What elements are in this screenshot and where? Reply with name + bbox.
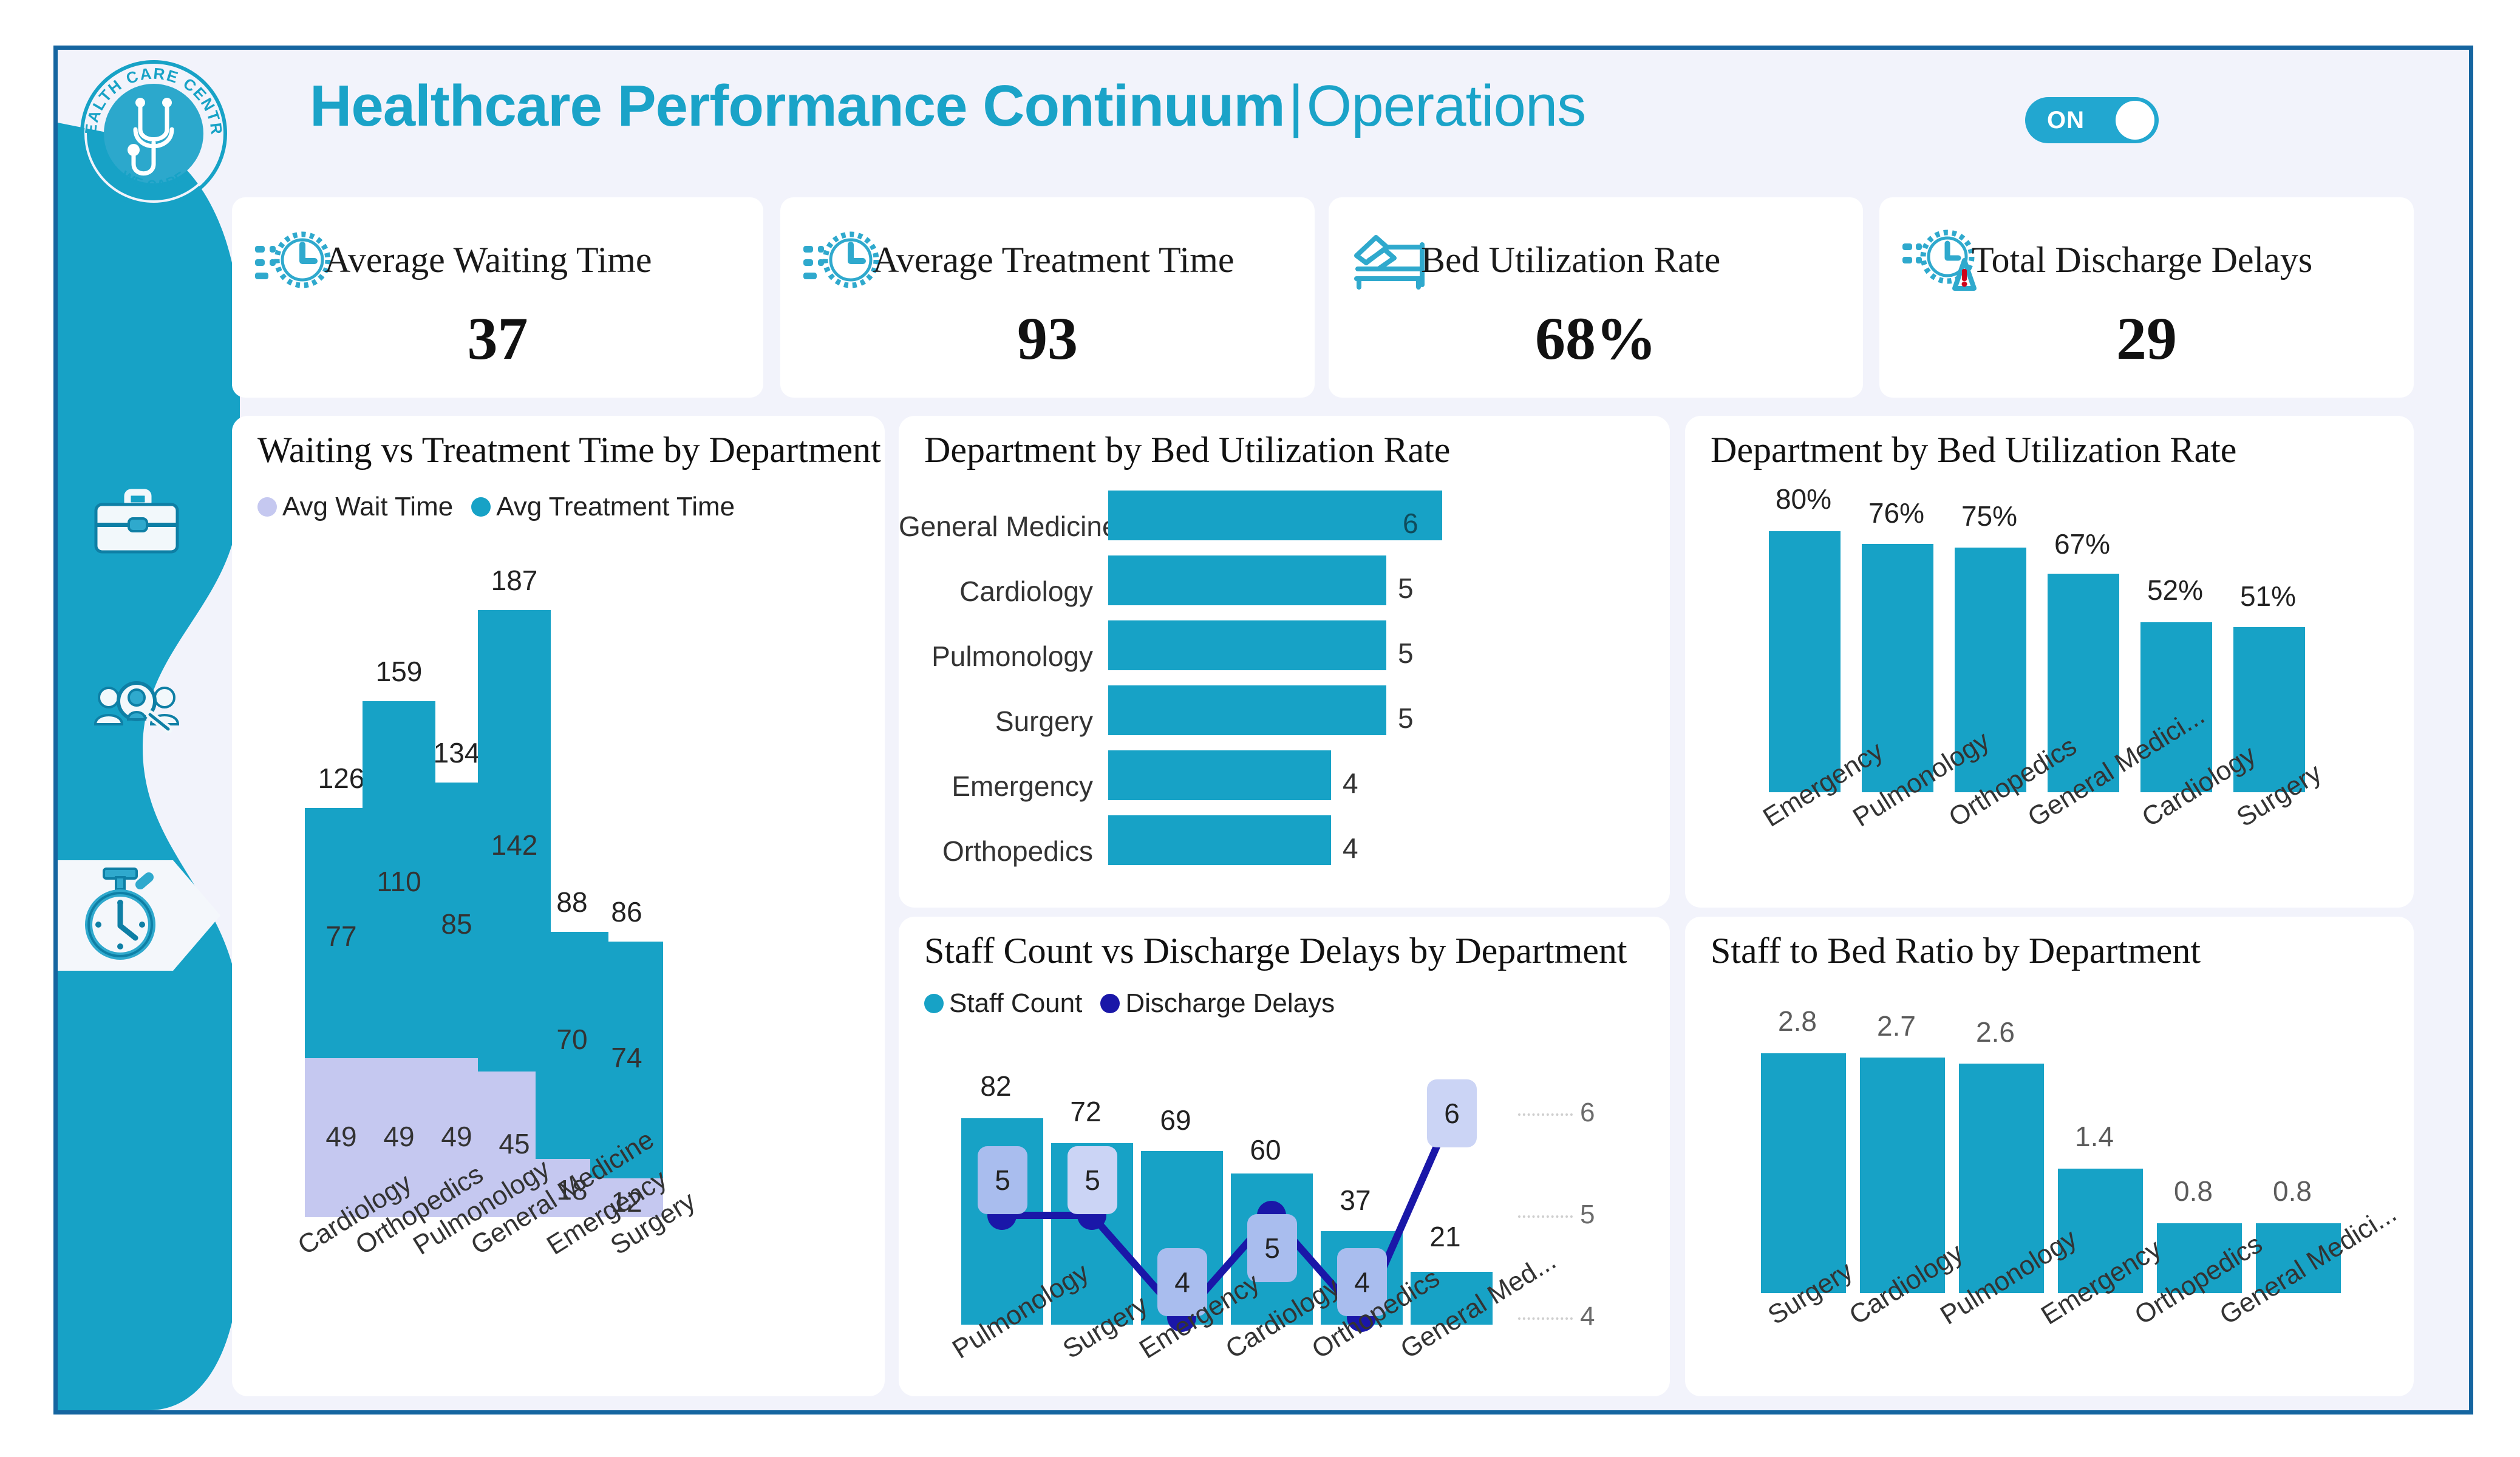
y-axis-label: Cardiology [899,575,1093,608]
line-value-label: 6 [1427,1079,1477,1147]
hbar[interactable] [1108,555,1386,605]
chart-card-staff-vs-discharge[interactable]: Staff Count vs Discharge Delays by Depar… [899,917,1670,1396]
staff-search-icon [88,671,185,744]
kpi-label: Average Treatment Time [873,239,1234,281]
bar-total-label: 159 [350,655,448,688]
line-value-label: 5 [1068,1146,1117,1214]
bar-segment-label: 142 [478,829,551,861]
chart-card-staff-to-bed-ratio[interactable]: Staff to Bed Ratio by Department 2.8 2.7… [1685,917,2414,1396]
chart-plot: 126 77 49 159 110 49 134 85 49 187 142 4… [232,416,885,1396]
kpi-card-average-treatment-time[interactable]: Average Treatment Time 93 [780,197,1315,398]
chart-card-dept-bed-utilization-bar[interactable]: Department by Bed Utilization Rate Gener… [899,416,1670,908]
hbar[interactable] [1108,685,1386,735]
hbar-value: 6 [1403,507,1418,540]
kpi-label: Average Waiting Time [324,239,652,281]
bar-segment-label: 74 [590,1041,663,1074]
page-title: Healthcare Performance Continuum | Opera… [310,64,1585,149]
clock-alert-icon [1901,226,1980,293]
kpi-value: 37 [232,304,763,373]
kpi-label: Bed Utilization Rate [1421,239,1720,281]
bar-value-label: 0.8 [2139,1175,2248,1207]
medical-kit-icon [91,489,182,562]
bar-value-label: 67% [2028,528,2137,560]
hbar[interactable] [1108,750,1331,800]
kpi-label: Total Discharge Delays [1972,239,2312,281]
chart-card-waiting-vs-treatment[interactable]: Waiting vs Treatment Time by Department … [232,416,885,1396]
hbar-value: 4 [1343,832,1358,864]
y-axis-label: Surgery [899,705,1093,738]
dashboard-page: HEALTH CARE CENTRE WE CARE Healthcare Pe… [0,0,2520,1457]
bar-value-label: 1.4 [2040,1120,2149,1153]
kpi-value: 68% [1329,304,1863,373]
column-bar[interactable] [1761,1053,1846,1293]
hbar-value: 5 [1398,637,1414,670]
kpi-value: 93 [780,304,1315,373]
stopwatch-icon [81,866,160,963]
logo: HEALTH CARE CENTRE WE CARE [78,58,230,209]
bar-value-label: 2.8 [1743,1005,1852,1038]
hbar-value: 5 [1398,572,1414,605]
bar-total-label: 86 [578,895,675,928]
toggle-knob [2116,101,2154,140]
chart-card-dept-bed-utilization-column[interactable]: Department by Bed Utilization Rate 80% 7… [1685,416,2414,908]
sidebar-item-operations-timer[interactable] [58,853,240,977]
chart-plot: 4 5 6 82 72 69 60 37 21 [899,917,1670,1396]
bar-value-label: 2.7 [1842,1010,1951,1042]
toggle-label: ON [2047,107,2085,134]
y-axis-label: Emergency [899,770,1093,803]
y-axis-label: General Medicine [899,510,1093,543]
hbar[interactable] [1108,620,1386,670]
clock-icon [802,226,881,293]
hbar-value: 4 [1343,767,1358,800]
bar-value-label: 2.6 [1941,1016,2050,1048]
page-title-bold: Healthcare Performance Continuum [310,73,1285,140]
sidebar-item-staff-search[interactable] [67,644,206,771]
column-bar[interactable] [1769,531,1841,792]
sidebar-item-medical-kit[interactable] [67,461,206,589]
chart-plot: 80% 76% 75% 67% 52% 51% Emergency Pulmon… [1685,416,2414,908]
y-axis-label: Pulmonology [899,640,1093,673]
bar-value-label: 0.8 [2238,1175,2347,1207]
hbar[interactable] [1108,491,1442,540]
clock-icon [254,226,333,293]
kpi-card-bed-utilization-rate[interactable]: Bed Utilization Rate 68% [1329,197,1863,398]
bed-icon [1350,226,1429,293]
chart-plot: 2.8 2.7 2.6 1.4 0.8 0.8 Surgery Cardiolo… [1685,917,2414,1396]
hbar[interactable] [1108,815,1331,865]
kpi-card-average-waiting-time[interactable]: Average Waiting Time 37 [232,197,763,398]
bar-total-label: 187 [466,564,563,597]
chart-plot: General Medicine 6 Cardiology 5 Pulmonol… [899,416,1670,908]
y-axis-label: Orthopedics [899,835,1093,868]
page-title-separator: | [1289,73,1303,140]
page-title-light: Operations [1307,73,1586,140]
kpi-value: 29 [1879,304,2414,373]
hbar-value: 5 [1398,702,1414,735]
line-value-label: 5 [978,1146,1027,1214]
kpi-card-total-discharge-delays[interactable]: Total Discharge Delays 29 [1879,197,2414,398]
line-value-label: 5 [1247,1214,1297,1282]
power-toggle[interactable]: ON [2025,97,2159,143]
bar-value-label: 51% [2213,580,2323,613]
